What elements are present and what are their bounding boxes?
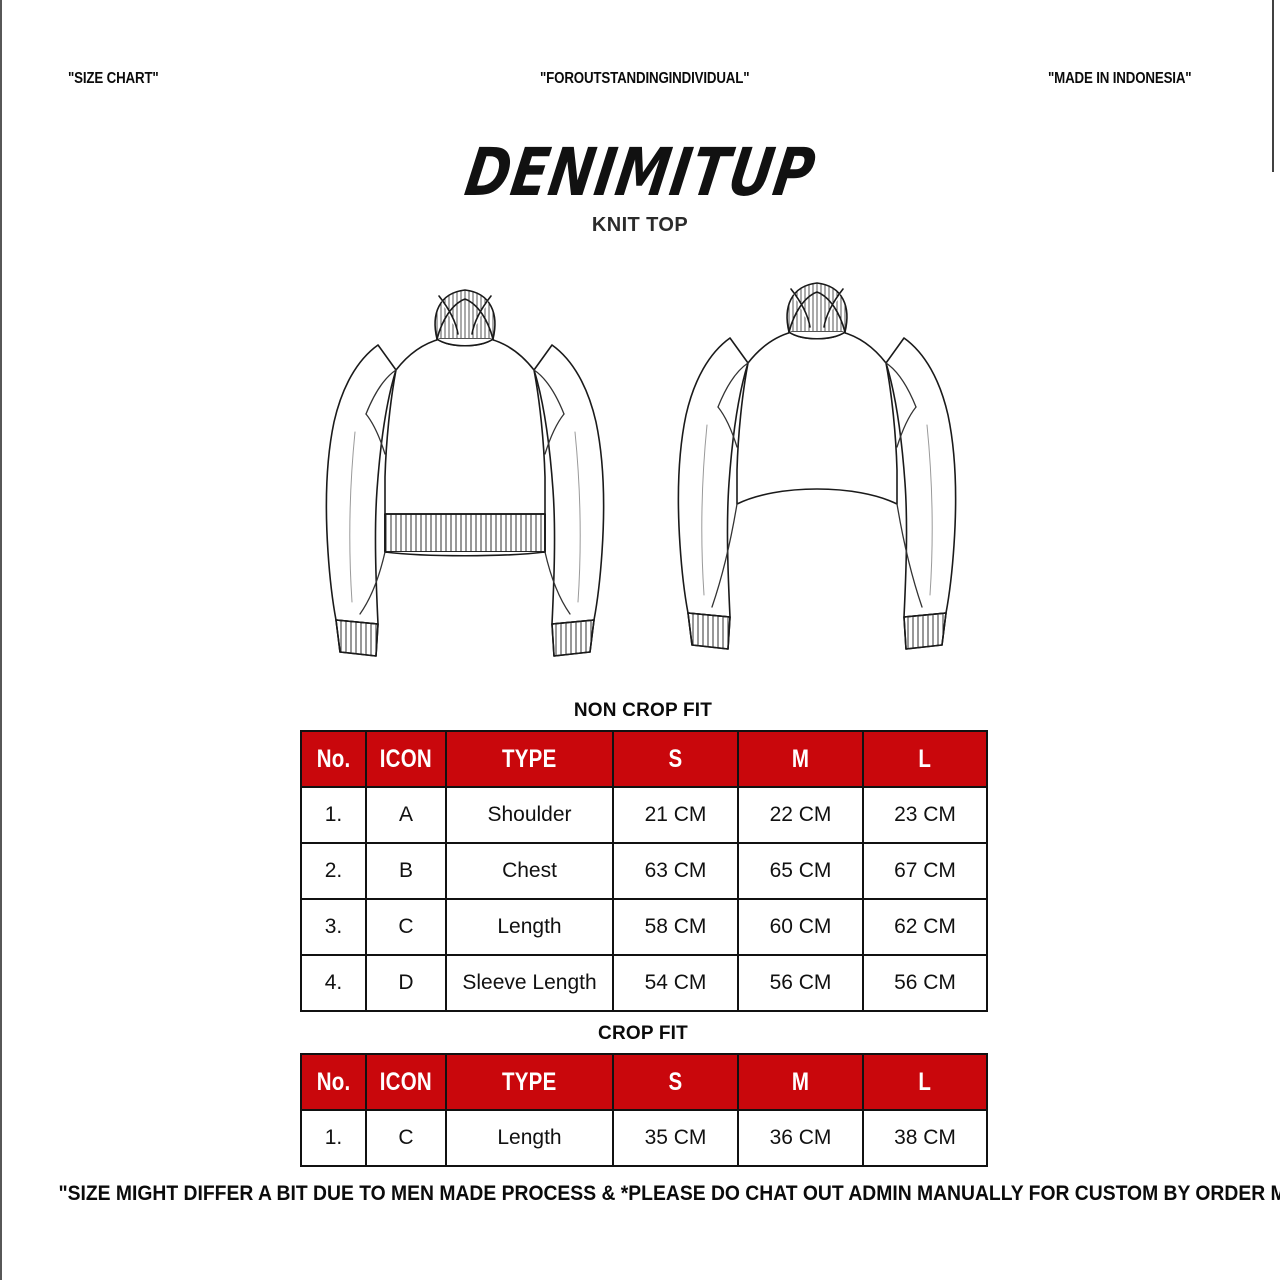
column-header-no-label: No. <box>317 1068 351 1097</box>
cell-type: Chest <box>446 843 613 899</box>
product-subtitle: KNIT TOP <box>0 214 1280 237</box>
column-header-icon-label: ICON <box>380 1068 432 1097</box>
size-chart-page: "SIZE CHART" "FOROUTSTANDINGINDIVIDUAL" … <box>0 0 1280 1280</box>
column-header-l-label: L <box>919 745 932 774</box>
cell-l: 38 CM <box>863 1110 987 1166</box>
cell-no: 1. <box>301 1110 366 1166</box>
column-header-l: L <box>863 731 987 787</box>
cell-m: 65 CM <box>738 843 863 899</box>
header-left-label: "SIZE CHART" <box>68 70 159 88</box>
cell-s: 58 CM <box>613 899 738 955</box>
column-header-m: M <box>738 731 863 787</box>
cell-s: 63 CM <box>613 843 738 899</box>
column-header-type: TYPE <box>446 731 613 787</box>
table-row: 1. C Length 35 CM 36 CM 38 CM <box>301 1110 987 1166</box>
table-caption-non-crop-fit: NON CROP FIT <box>300 700 986 722</box>
column-header-no-label: No. <box>317 745 351 774</box>
column-header-m: M <box>738 1054 863 1110</box>
cell-type: Length <box>446 899 613 955</box>
cell-m: 22 CM <box>738 787 863 843</box>
cell-s: 35 CM <box>613 1110 738 1166</box>
cell-m: 60 CM <box>738 899 863 955</box>
disclaimer-text: "SIZE MIGHT DIFFER A BIT DUE TO MEN MADE… <box>58 1182 1280 1206</box>
brand-logo: DENIMITUP <box>461 141 820 207</box>
column-header-s: S <box>613 1054 738 1110</box>
cell-no: 1. <box>301 787 366 843</box>
cell-s: 21 CM <box>613 787 738 843</box>
column-header-no: No. <box>301 1054 366 1110</box>
cell-icon: A <box>366 787 446 843</box>
column-header-l-label: L <box>919 1068 932 1097</box>
cell-type: Sleeve Length <box>446 955 613 1011</box>
cell-s: 54 CM <box>613 955 738 1011</box>
column-header-s: S <box>613 731 738 787</box>
cell-icon: C <box>366 899 446 955</box>
column-header-s-label: S <box>669 745 683 774</box>
cell-type: Length <box>446 1110 613 1166</box>
column-header-icon-label: ICON <box>380 745 432 774</box>
cell-icon: D <box>366 955 446 1011</box>
cell-l: 62 CM <box>863 899 987 955</box>
column-header-icon: ICON <box>366 731 446 787</box>
header-bar: "SIZE CHART" "FOROUTSTANDINGINDIVIDUAL" … <box>0 70 1280 100</box>
header-right-label: "MADE IN INDONESIA" <box>1048 70 1191 88</box>
knit-top-crop-sketch <box>652 252 982 672</box>
column-header-no: No. <box>301 731 366 787</box>
table-header-row: No. ICON TYPE S M L <box>301 1054 987 1110</box>
cell-m: 56 CM <box>738 955 863 1011</box>
cell-icon: B <box>366 843 446 899</box>
table-caption-crop-fit: CROP FIT <box>300 1023 986 1045</box>
column-header-m-label: M <box>792 745 809 774</box>
cell-type: Shoulder <box>446 787 613 843</box>
cell-m: 36 CM <box>738 1110 863 1166</box>
cell-l: 67 CM <box>863 843 987 899</box>
cell-l: 56 CM <box>863 955 987 1011</box>
size-table-crop-fit: No. ICON TYPE S M L 1. C Length 35 CM 36… <box>300 1053 988 1167</box>
garment-illustrations <box>300 252 1000 672</box>
table-row: 4. D Sleeve Length 54 CM 56 CM 56 CM <box>301 955 987 1011</box>
table-row: 3. C Length 58 CM 60 CM 62 CM <box>301 899 987 955</box>
column-header-type-label: TYPE <box>502 1068 557 1097</box>
disclaimer-note: "SIZE MIGHT DIFFER A BIT DUE TO MEN MADE… <box>0 1182 1280 1206</box>
brand-logo-wrap: DENIMITUP <box>0 146 1280 202</box>
header-center-label: "FOROUTSTANDINGINDIVIDUAL" <box>540 70 749 88</box>
column-header-s-label: S <box>669 1068 683 1097</box>
column-header-type-label: TYPE <box>502 745 557 774</box>
table-row: 2. B Chest 63 CM 65 CM 67 CM <box>301 843 987 899</box>
table-header-row: No. ICON TYPE S M L <box>301 731 987 787</box>
table-row: 1. A Shoulder 21 CM 22 CM 23 CM <box>301 787 987 843</box>
cell-no: 2. <box>301 843 366 899</box>
column-header-m-label: M <box>792 1068 809 1097</box>
knit-top-noncrop-sketch <box>300 252 630 672</box>
cell-l: 23 CM <box>863 787 987 843</box>
column-header-icon: ICON <box>366 1054 446 1110</box>
size-table-non-crop-fit: No. ICON TYPE S M L 1. A Shoulder 21 CM … <box>300 730 988 1012</box>
cell-no: 3. <box>301 899 366 955</box>
column-header-l: L <box>863 1054 987 1110</box>
column-header-type: TYPE <box>446 1054 613 1110</box>
cell-no: 4. <box>301 955 366 1011</box>
cell-icon: C <box>366 1110 446 1166</box>
